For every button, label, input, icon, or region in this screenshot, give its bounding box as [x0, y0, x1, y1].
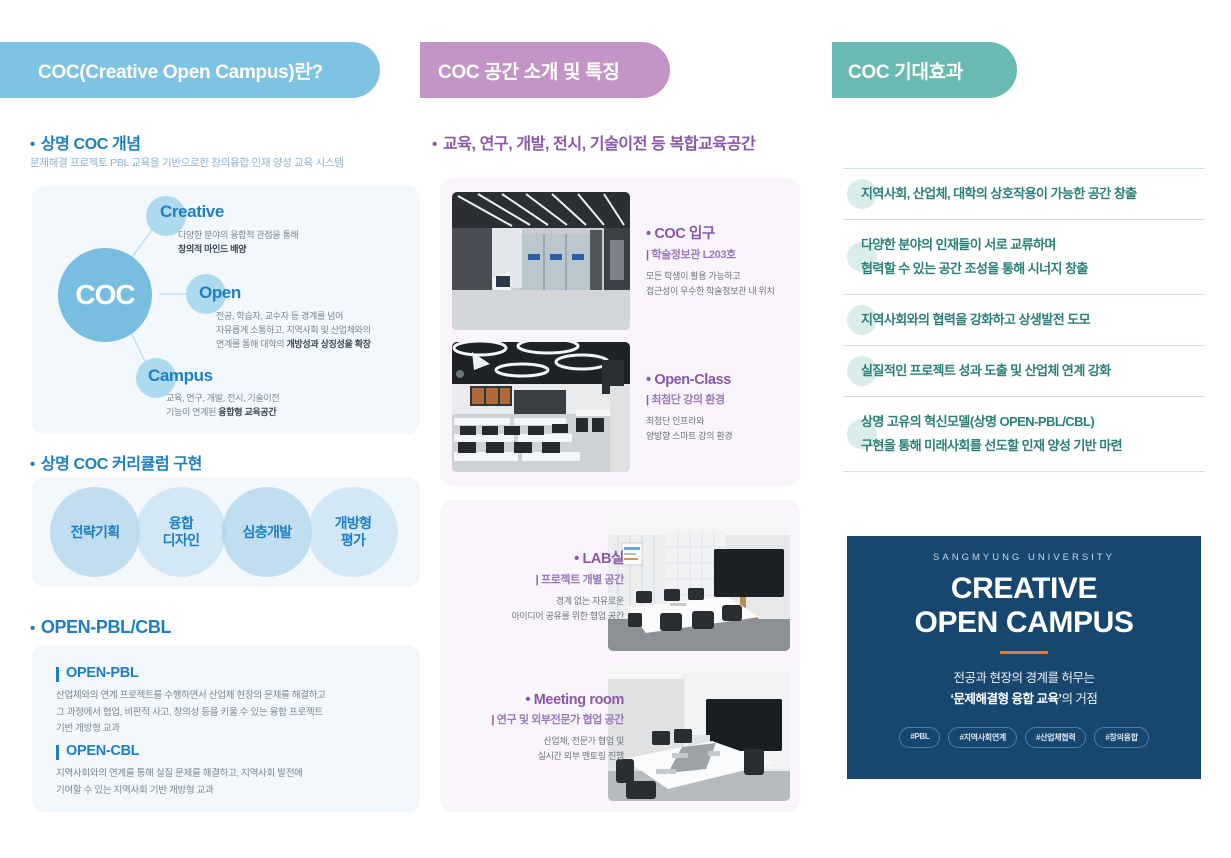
- effect-row-2-line-2: 협력할 수 있는 공간 조성을 통해 시너지 창출: [861, 257, 1199, 281]
- brand-card-title-line1: CREATIVE: [915, 572, 1134, 606]
- open-class-sub: | 최첨단 강의 환경: [646, 391, 732, 407]
- lab-room-sub: | 프로젝트 개별 공간: [511, 571, 624, 587]
- tag-community[interactable]: #지역사회연계: [948, 727, 1017, 748]
- brand-card-tags: #PBL #지역사회연계 #산업체협력 #창의융합: [899, 727, 1149, 748]
- header-mid-label: COC 공간 소개 및 특징: [438, 57, 620, 84]
- brand-card-subtitle-line1: 전공과 현장의 경계를 허무는: [951, 668, 1098, 689]
- effect-row-5-line-1: 상명 고유의 혁신모델(상명 OPEN-PBL/CBL): [861, 410, 1199, 434]
- section-title-space-label: 교육, 연구, 개발, 전시, 기술이전 등 복합교육공간: [443, 130, 756, 154]
- lab-room-desc: 경계 없는 자유로운 아이디어 공유를 위한 협업 공간: [511, 594, 624, 624]
- node-desc-open-l3pre: 연계를 통해 대학의: [216, 339, 286, 349]
- openpbl-panel: OPEN-PBL 산업체와의 연계 프로젝트를 수행하면서 산업체 현장의 문제…: [32, 645, 420, 812]
- node-desc-open-l1: 전공, 학습자, 교수자 등 경계를 넘어: [216, 310, 371, 324]
- coc-entrance-photo: [452, 192, 630, 330]
- curriculum-circle-3: 심층개발: [222, 487, 312, 577]
- lab-room-photo: [608, 513, 790, 651]
- section-title-curriculum-label: 상명 COC 커리큘럼 구현: [41, 450, 202, 474]
- header-right-label: COC 기대효과: [848, 57, 963, 84]
- coc-entrance-title: • COC 입구: [646, 222, 775, 243]
- effect-row-2-line-1: 다양한 분야의 인재들이 서로 교류하며: [861, 233, 1199, 257]
- section-title-space: • 교육, 연구, 개발, 전시, 기술이전 등 복합교육공간: [432, 130, 755, 154]
- section-title-curriculum: • 상명 COC 커리큘럼 구현: [30, 450, 202, 474]
- brand-card-subtitle: 전공과 현장의 경계를 허무는 ‘문제해결형 융합 교육’의 거점: [951, 668, 1098, 711]
- section-title-openpbl-label: OPEN-PBL/CBL: [41, 617, 171, 638]
- tag-pbl[interactable]: #PBL: [899, 727, 940, 748]
- open-class-photo-graphic: [452, 342, 630, 472]
- effect-row-1-line-1: 지역사회, 산업체, 대학의 상호작용이 가능한 공간 창출: [861, 182, 1199, 206]
- section-title-concept-label: 상명 COC 개념: [41, 130, 141, 154]
- curriculum-label-2-l1: 융합: [169, 515, 194, 531]
- brand-card-subtitle-tail: 의 거점: [1061, 692, 1097, 706]
- brand-card-divider: [1000, 651, 1048, 654]
- curriculum-circle-1: 전략기획: [50, 487, 140, 577]
- curriculum-label-1-l1: 전략기획: [70, 524, 119, 540]
- bullet-dot: •: [30, 621, 35, 636]
- open-class-desc: 최첨단 인프라와 양방향 스마트 강의 환경: [646, 414, 732, 444]
- node-label-creative: Creative: [160, 202, 224, 222]
- section-subtitle-concept: 문제해결 프로젝트 PBL 교육을 기반으로한 창의융합 인재 양성 교육 시스…: [30, 155, 344, 170]
- curriculum-label-2-l2: 디자인: [163, 532, 200, 548]
- curriculum-circle-2: 융합디자인: [136, 487, 226, 577]
- node-label-campus: Campus: [148, 366, 213, 386]
- bullet-dot: •: [30, 137, 35, 152]
- curriculum-label-4-l1: 개방형: [335, 515, 372, 531]
- meeting-room-title: • Meeting room: [491, 692, 624, 708]
- lab-room-photo-graphic: [608, 513, 790, 651]
- bullet-dot: •: [432, 137, 437, 152]
- header-left-label: COC(Creative Open Campus)란?: [38, 57, 323, 84]
- brand-card: SANGMYUNG UNIVERSITY CREATIVE OPEN CAMPU…: [847, 536, 1201, 779]
- coc-center-circle: COC: [58, 248, 152, 342]
- node-desc-campus-l2pre: 기능이 연계된: [166, 407, 218, 417]
- coc-center-label: COC: [75, 279, 134, 311]
- node-desc-open-l3bold: 개방성과 상징성을 확장: [286, 339, 370, 349]
- coc-entrance-photo-graphic: [452, 192, 630, 330]
- meeting-room-caption: • Meeting room | 연구 및 외부전문가 협업 공간 산업체, 전…: [491, 692, 624, 764]
- coc-entrance-caption: • COC 입구 | 학술정보관 L203호 모든 학생이 활용 가능하고 접근…: [646, 222, 775, 299]
- openpbl-block-2-body: 지역사회와의 연계를 통해 실질 문제를 해결하고, 지역사회 발전에 기여할 …: [56, 766, 303, 799]
- openpbl-block-1-head: OPEN-PBL: [56, 665, 139, 681]
- curriculum-panel: 전략기획 융합디자인 심층개발 개방형평가: [32, 477, 420, 587]
- curriculum-label-4-l2: 평가: [341, 532, 366, 548]
- section-title-concept: • 상명 COC 개념: [30, 130, 141, 154]
- open-class-photo: [452, 342, 630, 472]
- effect-row-3-line-1: 지역사회와의 협력을 강화하고 상생발전 도모: [861, 308, 1199, 332]
- coc-entrance-desc: 모든 학생이 활용 가능하고 접근성이 우수한 학술정보관 내 위치: [646, 269, 775, 299]
- space-card-1: • COC 입구 | 학술정보관 L203호 모든 학생이 활용 가능하고 접근…: [440, 178, 800, 486]
- curriculum-circle-4: 개방형평가: [308, 487, 398, 577]
- effect-row-4-line-1: 실질적인 프로젝트 성과 도출 및 산업체 연계 강화: [861, 359, 1199, 383]
- brand-card-title: CREATIVE OPEN CAMPUS: [915, 572, 1134, 639]
- effect-row-3: 지역사회와의 협력을 강화하고 상생발전 도모: [843, 294, 1205, 345]
- node-desc-creative-l1: 다양한 분야의 융합적 관점을 통해: [178, 229, 299, 243]
- section-title-openpbl: • OPEN-PBL/CBL: [30, 617, 171, 638]
- curriculum-label-3-l1: 심층개발: [242, 524, 291, 540]
- lab-room-caption: • LAB실 | 프로젝트 개별 공간 경계 없는 자유로운 아이디어 공유를 …: [511, 547, 624, 624]
- brand-card-title-line2: OPEN CAMPUS: [915, 606, 1134, 640]
- header-right: COC 기대효과: [832, 42, 1017, 98]
- effect-row-2: 다양한 분야의 인재들이 서로 교류하며 협력할 수 있는 공간 조성을 통해 …: [843, 219, 1205, 294]
- node-desc-campus-l1: 교육, 연구, 개발, 전시, 기술이전: [166, 392, 279, 406]
- node-desc-campus: 교육, 연구, 개발, 전시, 기술이전 기능이 연계된 융합형 교육공간: [166, 392, 279, 420]
- openpbl-block-1-body: 산업체와의 연계 프로젝트를 수행하면서 산업체 현장의 문제를 해결하고 그 …: [56, 688, 326, 738]
- meeting-room-photo: [608, 663, 790, 801]
- meeting-room-photo-graphic: [608, 663, 790, 801]
- effect-row-5-line-2: 구현을 통해 미래사회를 선도할 인재 양성 기반 마련: [861, 434, 1199, 458]
- effect-row-4: 실질적인 프로젝트 성과 도출 및 산업체 연계 강화: [843, 345, 1205, 396]
- expected-effects-list: 지역사회, 산업체, 대학의 상호작용이 가능한 공간 창출 다양한 분야의 인…: [843, 168, 1205, 472]
- space-card-2: • LAB실 | 프로젝트 개별 공간 경계 없는 자유로운 아이디어 공유를 …: [440, 500, 800, 812]
- lab-room-title: • LAB실: [511, 547, 624, 568]
- meeting-room-sub: | 연구 및 외부전문가 협업 공간: [491, 711, 624, 727]
- node-desc-open-l2: 자유롭게 소통하고, 지역사회 및 산업체와의: [216, 324, 371, 338]
- node-desc-creative: 다양한 분야의 융합적 관점을 통해 창의적 마인드 배양: [178, 229, 299, 257]
- coc-entrance-sub: | 학술정보관 L203호: [646, 246, 775, 262]
- effect-row-5: 상명 고유의 혁신모델(상명 OPEN-PBL/CBL) 구현을 통해 미래사회…: [843, 396, 1205, 472]
- openpbl-block-2-head: OPEN-CBL: [56, 743, 139, 759]
- node-label-open: Open: [199, 283, 241, 303]
- open-class-caption: • Open-Class | 최첨단 강의 환경 최첨단 인프라와 양방향 스마…: [646, 372, 732, 444]
- header-left: COC(Creative Open Campus)란?: [0, 42, 380, 98]
- node-desc-campus-l2bold: 융합형 교육공간: [218, 407, 276, 417]
- tag-creative[interactable]: #창의융합: [1094, 727, 1148, 748]
- bullet-dot: •: [30, 457, 35, 472]
- node-desc-open: 전공, 학습자, 교수자 등 경계를 넘어 자유롭게 소통하고, 지역사회 및 …: [216, 310, 371, 352]
- tag-industry[interactable]: #산업체협력: [1025, 727, 1086, 748]
- header-mid: COC 공간 소개 및 특징: [420, 42, 670, 98]
- open-class-title: • Open-Class: [646, 372, 732, 388]
- infographic-page: COC(Creative Open Campus)란? COC 공간 소개 및 …: [0, 0, 1231, 858]
- brand-card-eyebrow: SANGMYUNG UNIVERSITY: [933, 552, 1115, 563]
- node-desc-creative-l2: 창의적 마인드 배양: [178, 244, 246, 254]
- brand-card-subtitle-quote: ‘문제해결형 융합 교육’: [951, 692, 1062, 706]
- meeting-room-desc: 산업체, 전문가 협업 및 실시간 외부 멘토링 진행: [491, 734, 624, 764]
- effect-row-1: 지역사회, 산업체, 대학의 상호작용이 가능한 공간 창출: [843, 168, 1205, 219]
